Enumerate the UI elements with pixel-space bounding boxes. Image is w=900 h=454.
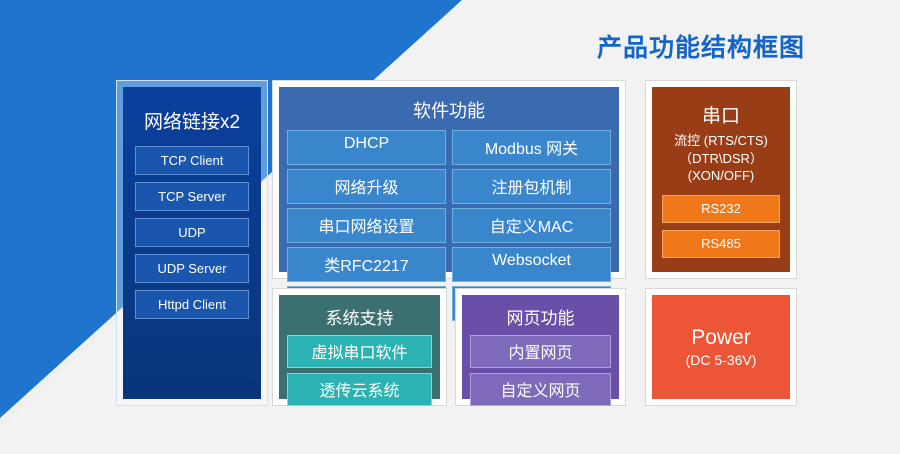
web-function-panel: 网页功能 内置网页 自定义网页: [462, 295, 619, 399]
software-item-websocket[interactable]: Websocket: [452, 247, 611, 282]
system-support-panel-title: 系统支持: [326, 304, 394, 329]
system-support-panel: 系统支持 虚拟串口软件 透传云系统: [279, 295, 440, 399]
network-panel-title: 网络链接x2: [144, 107, 240, 134]
network-item-httpd-client[interactable]: Httpd Client: [135, 290, 249, 319]
serial-flow-control-info: 流控 (RTS/CTS) （DTR\DSR） (XON/OFF): [674, 132, 768, 185]
web-function-panel-title: 网页功能: [507, 304, 575, 329]
serial-panel-title: 串口: [702, 101, 740, 128]
serial-panel: 串口 流控 (RTS/CTS) （DTR\DSR） (XON/OFF) RS23…: [652, 87, 790, 272]
power-panel-frame: Power (DC 5-36V): [645, 288, 797, 406]
network-item-tcp-server[interactable]: TCP Server: [135, 182, 249, 211]
software-item-serial-network-config[interactable]: 串口网络设置: [287, 208, 446, 243]
web-function-item-custom-page[interactable]: 自定义网页: [470, 373, 611, 406]
serial-flow-line-dtr-dsr: （DTR\DSR）: [674, 150, 768, 168]
software-panel-frame: 软件功能 DHCP Modbus 网关 网络升级 注册包机制 串口网络设置 自定…: [272, 80, 626, 279]
system-support-item-cloud[interactable]: 透传云系统: [287, 373, 432, 406]
software-panel-title: 软件功能: [413, 97, 485, 123]
serial-item-rs232[interactable]: RS232: [662, 195, 780, 223]
software-item-rfc2217[interactable]: 类RFC2217: [287, 247, 446, 282]
software-item-registration-packet[interactable]: 注册包机制: [452, 169, 611, 204]
diagram-canvas: 产品功能结构框图 网络链接x2 TCP Client TCP Server UD…: [0, 0, 900, 454]
power-panel-title: Power: [691, 326, 751, 349]
serial-flow-line-xon-off: (XON/OFF): [674, 167, 768, 185]
network-panel-frame: 网络链接x2 TCP Client TCP Server UDP UDP Ser…: [116, 80, 268, 406]
system-support-panel-frame: 系统支持 虚拟串口软件 透传云系统: [272, 288, 447, 406]
web-function-panel-frame: 网页功能 内置网页 自定义网页: [455, 288, 626, 406]
power-panel: Power (DC 5-36V): [652, 295, 790, 399]
serial-item-rs485[interactable]: RS485: [662, 230, 780, 258]
web-function-item-builtin-page[interactable]: 内置网页: [470, 335, 611, 368]
software-item-dhcp[interactable]: DHCP: [287, 130, 446, 165]
network-item-udp-server[interactable]: UDP Server: [135, 254, 249, 283]
software-item-network-upgrade[interactable]: 网络升级: [287, 169, 446, 204]
network-item-tcp-client[interactable]: TCP Client: [135, 146, 249, 175]
power-voltage-range: (DC 5-36V): [686, 352, 757, 368]
serial-flow-line-rts-cts: 流控 (RTS/CTS): [674, 132, 768, 150]
software-item-custom-mac[interactable]: 自定义MAC: [452, 208, 611, 243]
system-support-item-virtual-serial[interactable]: 虚拟串口软件: [287, 335, 432, 368]
network-panel: 网络链接x2 TCP Client TCP Server UDP UDP Ser…: [123, 87, 261, 399]
network-item-udp[interactable]: UDP: [135, 218, 249, 247]
serial-panel-frame: 串口 流控 (RTS/CTS) （DTR\DSR） (XON/OFF) RS23…: [645, 80, 797, 279]
software-panel: 软件功能 DHCP Modbus 网关 网络升级 注册包机制 串口网络设置 自定…: [279, 87, 619, 272]
page-title: 产品功能结构框图: [597, 28, 805, 64]
software-item-modbus-gateway[interactable]: Modbus 网关: [452, 130, 611, 165]
